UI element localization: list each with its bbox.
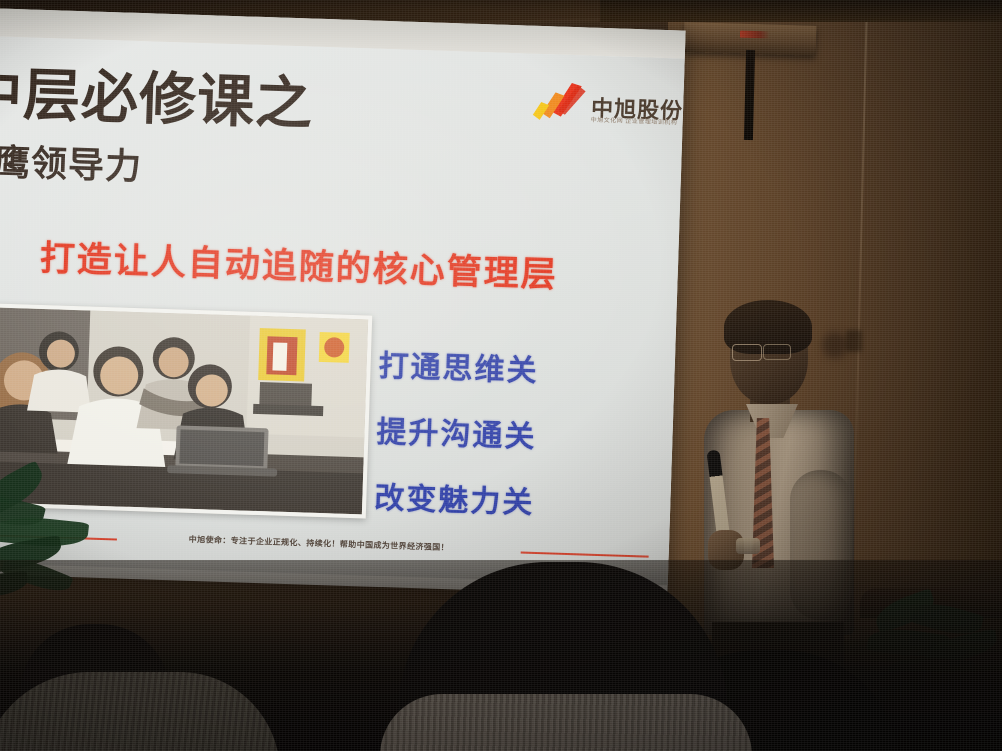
- flame-mark-icon: [531, 82, 594, 126]
- wristwatch-icon: [736, 538, 760, 554]
- company-logo: 中旭股份 中旭文化网 企业管理培训机构: [530, 78, 662, 134]
- footer-rule-right: [521, 552, 649, 558]
- presentation-photo: 中层必修课之 精鹰领导力 中旭股份 中旭文化网 企业管理培训机构 打造让人自动追…: [0, 0, 1002, 751]
- roller-brand-mark-icon: [740, 31, 770, 39]
- logo-tagline: 中旭文化网 企业管理培训机构: [591, 115, 678, 127]
- slide-bullet-list: 打通思维关 提升沟通关 改变魅力关: [373, 341, 539, 544]
- footer-mission-text: 中旭使命：专注于企业正规化、持续化！帮助中国成为世界经济强国！: [189, 534, 450, 553]
- slide-title: 中层必修课之: [0, 65, 314, 133]
- slide-subtitle: 精鹰领导力: [0, 143, 143, 185]
- slide-bullet: 提升沟通关: [376, 407, 537, 456]
- eyeglasses-icon: [763, 344, 791, 360]
- slide-bullet: 打通思维关: [378, 341, 539, 390]
- audience-striped-shirt: [380, 694, 752, 751]
- slide-bullet: 改变魅力关: [374, 473, 535, 522]
- ceiling-beam-right: [600, 0, 1002, 22]
- slide-headline: 打造让人自动追随的核心管理层: [39, 230, 558, 298]
- eyeglasses-icon: [732, 344, 762, 361]
